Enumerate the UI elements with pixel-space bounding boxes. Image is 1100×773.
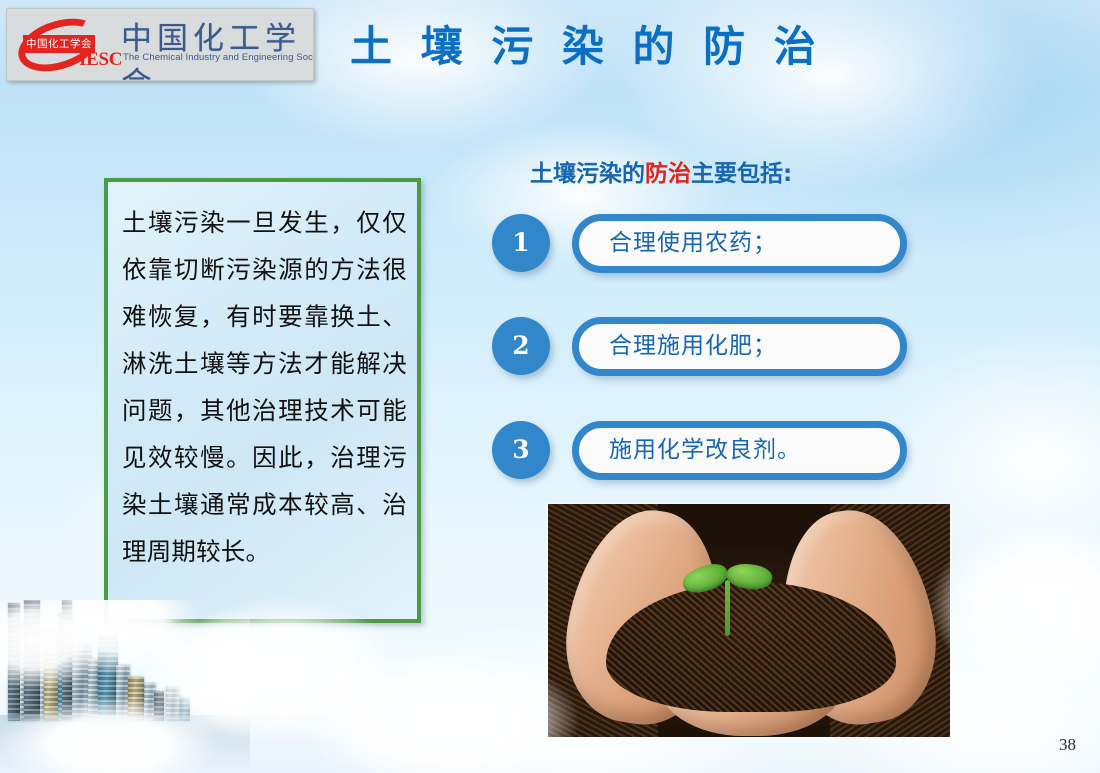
step-label: 合理施用化肥； <box>609 324 888 369</box>
slide-canvas: 中国化工学会 IESC 中国化工学会 The Chemical Industry… <box>0 0 1100 773</box>
step-label: 合理使用农药； <box>609 221 888 266</box>
sprout-stem <box>725 580 730 636</box>
step-pill[interactable]: 合理使用农药； <box>572 214 907 273</box>
step-label: 施用化学改良剂。 <box>609 428 888 473</box>
page-title: 土 壤 污 染 的 防 治 <box>350 18 770 76</box>
logo-name-cn: 中国化工学会 <box>121 13 313 81</box>
logo-abbr: IESC <box>79 49 122 71</box>
step-number-badge: 2 <box>492 317 550 375</box>
step-pill[interactable]: 施用化学改良剂。 <box>572 421 907 480</box>
heading-part-before: 土壤污染的 <box>530 161 645 187</box>
left-panel-paragraph: 土壤污染一旦发生，仅仅依靠切断污染源的方法很难恢复，有时要靠换土、淋洗土壤等方法… <box>122 199 407 575</box>
step-number-badge: 3 <box>492 421 550 479</box>
page-number: 38 <box>1059 735 1076 755</box>
cloud-puff <box>930 520 1100 690</box>
logo-name-en: The Chemical Industry and Engineering So… <box>123 52 314 63</box>
step-pill[interactable]: 合理施用化肥； <box>572 317 907 376</box>
left-text-panel: 土壤污染一旦发生，仅仅依靠切断污染源的方法很难恢复，有时要靠换土、淋洗土壤等方法… <box>104 178 421 623</box>
society-logo: 中国化工学会 IESC 中国化工学会 The Chemical Industry… <box>6 8 314 81</box>
step-number-badge: 1 <box>492 214 550 272</box>
heading-highlight: 防治 <box>645 161 691 187</box>
right-section-heading: 土壤污染的防治主要包括: <box>530 157 910 191</box>
soil-photo <box>548 504 950 737</box>
heading-part-after: 主要包括: <box>691 161 792 187</box>
